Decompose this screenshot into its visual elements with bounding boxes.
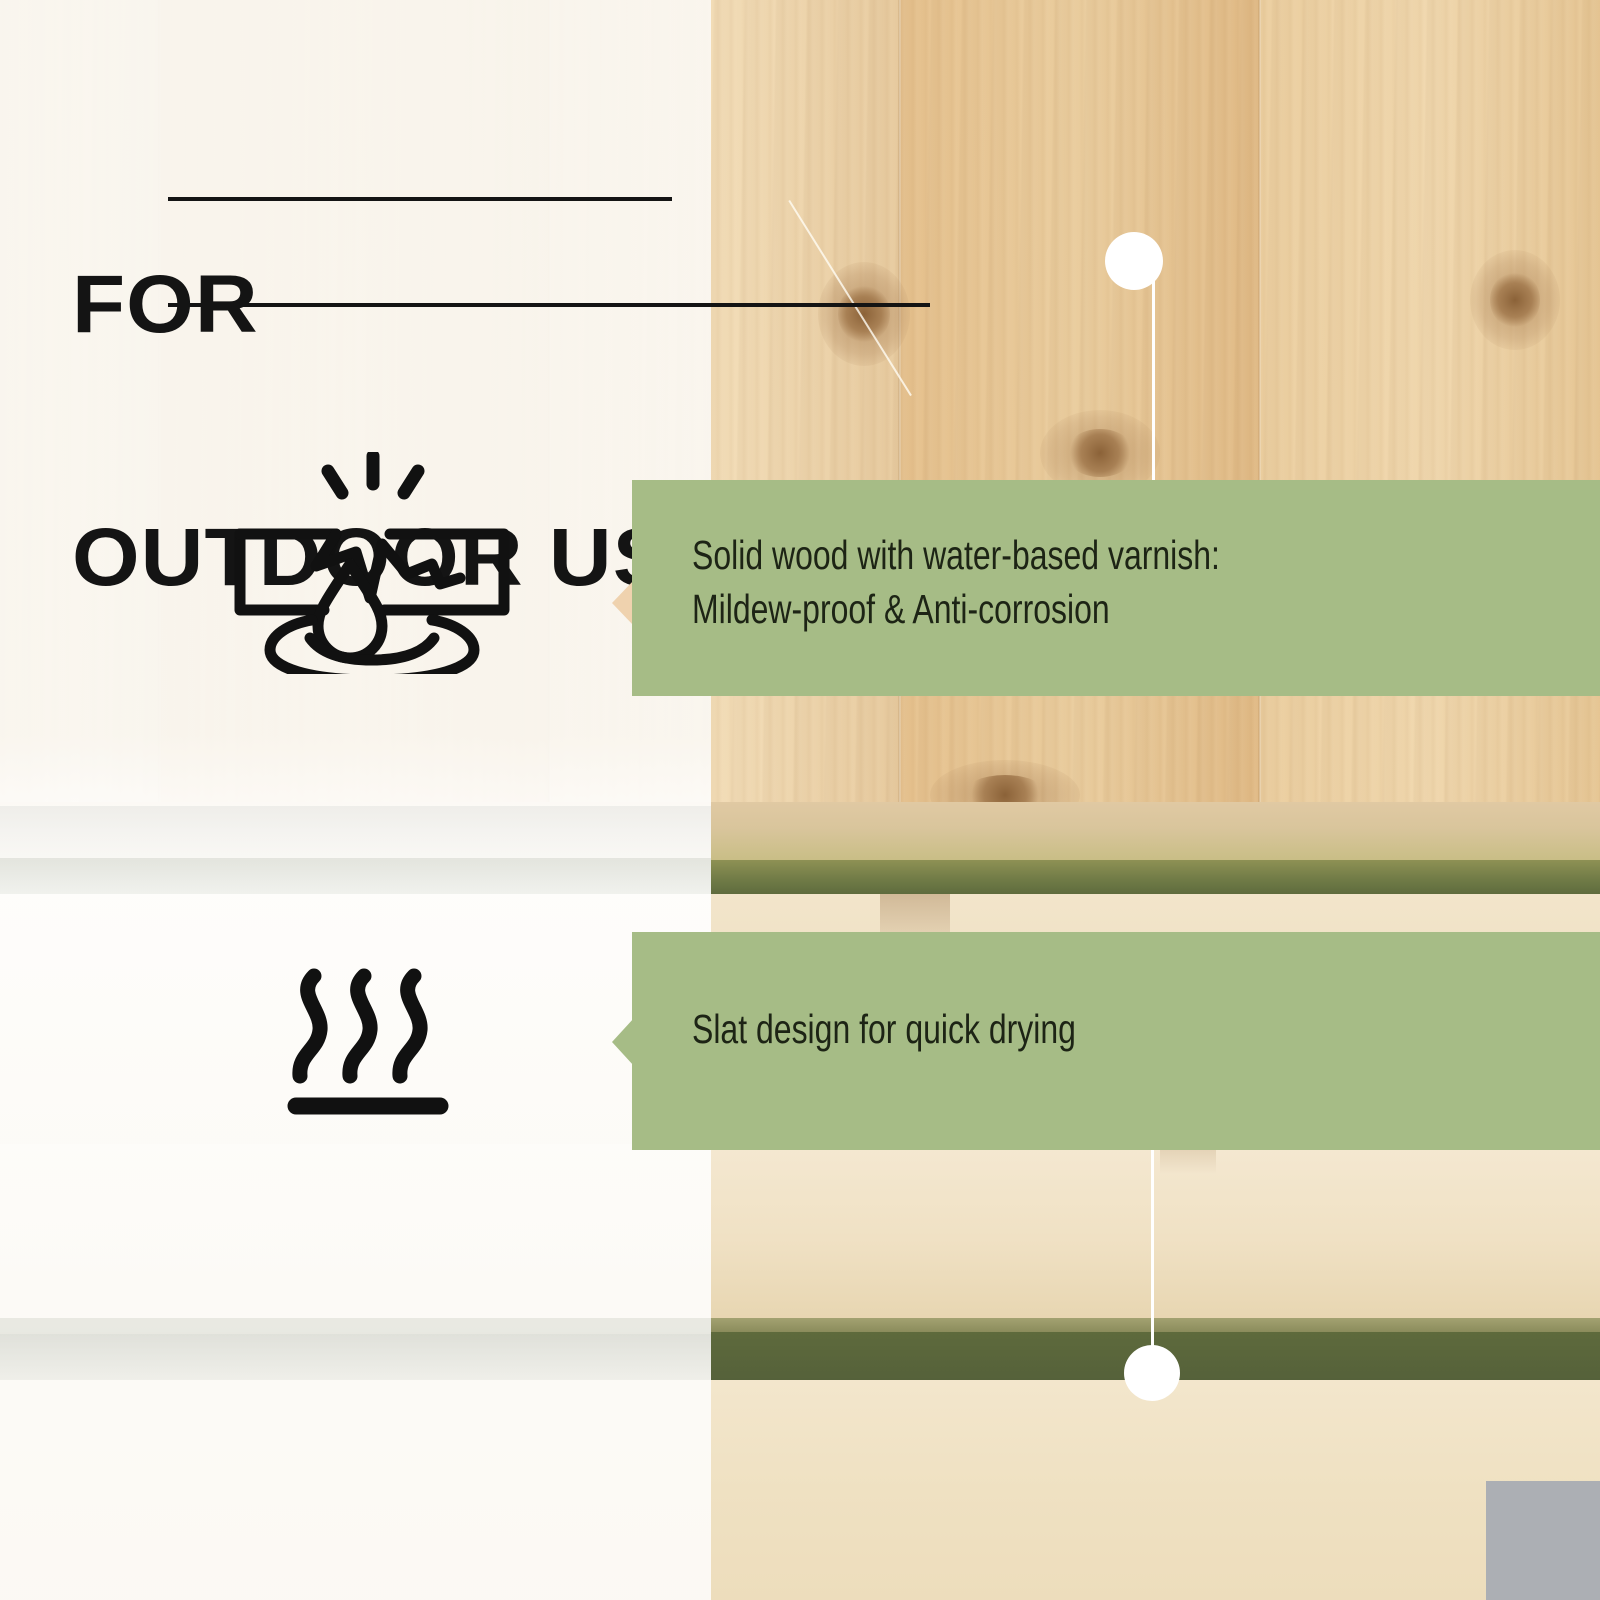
banner-text-top: Solid wood with water-based varnish:Mild… [692,528,1220,636]
callout-dot-bottom[interactable] [1124,1345,1180,1401]
overlay-rail-shade [0,1318,711,1334]
overlay-rail-shade [0,858,711,894]
feature-banner-water-resistance[interactable]: Solid wood with water-based varnish:Mild… [632,480,1600,696]
plank-seam [898,0,901,830]
wood-knot [1470,250,1560,350]
banner-text-bottom: Slat design for quick drying [692,1002,1076,1056]
infographic-canvas: FOR OUTDOOR USE [0,0,1600,1600]
title-underline-lower [168,303,930,307]
banner-notch-bottom [612,1018,634,1066]
overlay-rail-shade [0,1334,711,1380]
callout-leader-line-top [1152,268,1155,484]
cracked-board-water-drop-icon [232,452,512,674]
overlay-rail-shade [0,806,711,858]
wood-knot [818,262,910,366]
plank-seam [1258,0,1261,830]
callout-leader-line-bottom [1151,1148,1154,1356]
title-underline-upper [168,197,672,201]
callout-dot-top[interactable] [1105,232,1163,290]
banner-line-1: Slat design for quick drying [692,1006,1076,1052]
banner-notch-top [612,580,634,626]
grey-corner-block [1486,1481,1600,1600]
steam-drying-icon [284,966,452,1118]
feature-banner-quick-drying[interactable]: Slat design for quick drying [632,932,1600,1150]
banner-line-1: Solid wood with water-based varnish: [692,532,1220,578]
banner-line-2: Mildew-proof & Anti-corrosion [692,586,1110,632]
